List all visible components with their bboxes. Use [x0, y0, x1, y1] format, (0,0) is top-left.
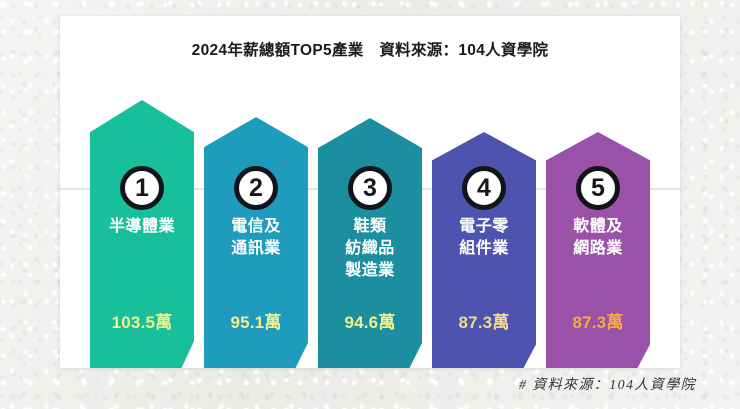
- ranking-chart: 1半導體業103.5萬2電信及通訊業95.1萬3鞋類紡織品製造業94.6萬4電子…: [60, 76, 680, 368]
- salary-value: 87.3萬: [546, 308, 650, 333]
- rank-badge: 3: [348, 166, 392, 210]
- rank-number: 5: [591, 176, 605, 201]
- salary-value: 103.5萬: [90, 308, 194, 333]
- rank-badge: 2: [234, 166, 278, 210]
- rank-badge: 5: [576, 166, 620, 210]
- industry-name-line: 製造業: [318, 260, 422, 282]
- industry-name-line: 半導體業: [90, 216, 194, 238]
- industry-name: 半導體業: [90, 216, 194, 238]
- industry-name-line: 通訊業: [204, 238, 308, 260]
- rank-ribbon[interactable]: 1半導體業103.5萬: [90, 100, 194, 368]
- industry-name-line: 軟體及: [546, 216, 650, 238]
- industry-name: 鞋類紡織品製造業: [318, 216, 422, 282]
- rank-ribbon[interactable]: 2電信及通訊業95.1萬: [204, 117, 308, 368]
- source-footnote: # 資料來源：104人資學院: [519, 374, 696, 394]
- rank-number: 2: [249, 176, 263, 201]
- industry-name-line: 網路業: [546, 238, 650, 260]
- salary-value: 87.3萬: [432, 308, 536, 333]
- rank-badge: 1: [120, 166, 164, 210]
- industry-name-line: 紡織品: [318, 238, 422, 260]
- industry-name-line: 電信及: [204, 216, 308, 238]
- industry-name: 軟體及網路業: [546, 216, 650, 260]
- salary-value: 94.6萬: [318, 308, 422, 333]
- industry-name-line: 組件業: [432, 238, 536, 260]
- industry-name: 電子零組件業: [432, 216, 536, 260]
- rank-ribbon[interactable]: 5軟體及網路業87.3萬: [546, 132, 650, 368]
- rank-badge: 4: [462, 166, 506, 210]
- page-title: 2024年薪總額TOP5產業 資料來源：104人資學院: [60, 38, 680, 60]
- rank-number: 3: [363, 176, 377, 201]
- infographic-card: 2024年薪總額TOP5產業 資料來源：104人資學院 1半導體業103.5萬2…: [60, 16, 680, 368]
- infographic-page: 2024年薪總額TOP5產業 資料來源：104人資學院 1半導體業103.5萬2…: [0, 0, 740, 409]
- rank-number: 4: [477, 176, 491, 201]
- rank-number: 1: [135, 176, 149, 201]
- salary-value: 95.1萬: [204, 308, 308, 333]
- industry-name-line: 鞋類: [318, 216, 422, 238]
- rank-ribbon[interactable]: 3鞋類紡織品製造業94.6萬: [318, 118, 422, 368]
- industry-name-line: 電子零: [432, 216, 536, 238]
- industry-name: 電信及通訊業: [204, 216, 308, 260]
- rank-ribbon[interactable]: 4電子零組件業87.3萬: [432, 132, 536, 368]
